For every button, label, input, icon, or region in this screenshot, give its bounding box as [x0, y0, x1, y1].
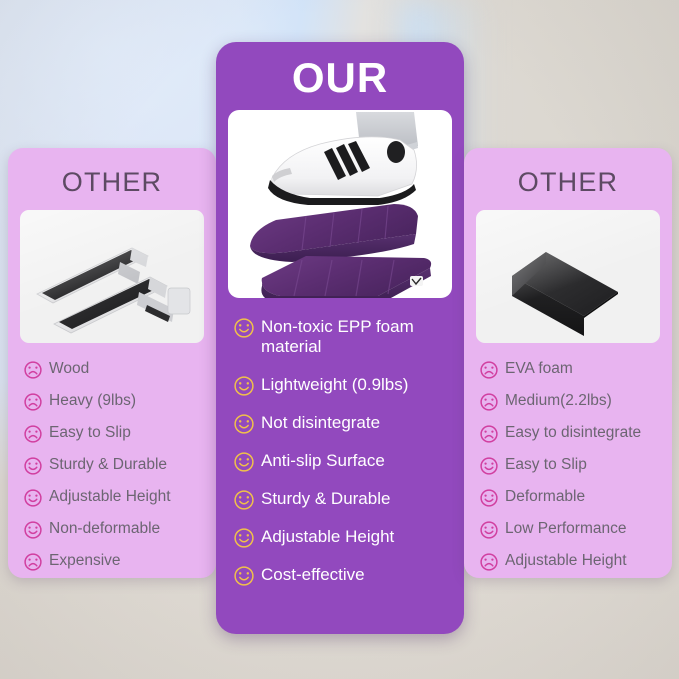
- feature-item: Anti-slip Surface: [234, 450, 452, 472]
- dual-slant-board-illustration: [20, 210, 204, 343]
- feature-label: Anti-slip Surface: [261, 450, 385, 471]
- feature-label: Deformable: [505, 487, 585, 506]
- feature-label: Sturdy & Durable: [49, 455, 167, 474]
- feature-label: Sturdy & Durable: [261, 488, 390, 509]
- feature-label: Medium(2.2lbs): [505, 391, 612, 410]
- sad-face-icon: [24, 423, 42, 443]
- feature-item: Medium(2.2lbs): [480, 391, 660, 411]
- happy-face-icon: [234, 412, 254, 434]
- feature-item: Expensive: [24, 551, 204, 571]
- feature-item: Lightweight (0.9lbs): [234, 374, 452, 396]
- feature-label: Expensive: [49, 551, 121, 570]
- card-left-feature-list: Wood Heavy (9lbs) Easy to Slip Sturdy & …: [20, 359, 204, 571]
- happy-face-icon: [234, 450, 254, 472]
- sad-face-icon: [24, 551, 42, 571]
- feature-item: Adjustable Height: [234, 526, 452, 548]
- feature-label: Non-toxic EPP foam material: [261, 316, 452, 358]
- card-right-feature-list: EVA foam Medium(2.2lbs) Easy to disinteg…: [476, 359, 660, 571]
- feature-item: Cost-effective: [234, 564, 452, 586]
- feature-item: Non-deformable: [24, 519, 204, 539]
- sad-face-icon: [24, 391, 42, 411]
- feature-label: Cost-effective: [261, 564, 365, 585]
- sad-face-icon: [24, 359, 42, 379]
- feature-item: Heavy (9lbs): [24, 391, 204, 411]
- happy-face-icon: [234, 526, 254, 548]
- happy-face-icon: [234, 316, 254, 338]
- feature-label: EVA foam: [505, 359, 573, 378]
- feature-item: Adjustable Height: [480, 551, 660, 571]
- happy-face-icon: [480, 455, 498, 475]
- comparison-card-our: OUR: [216, 42, 464, 634]
- happy-face-icon: [24, 487, 42, 507]
- feature-item: Sturdy & Durable: [24, 455, 204, 475]
- card-right-product-image: [476, 210, 660, 343]
- happy-face-icon: [234, 374, 254, 396]
- card-left-heading: OTHER: [20, 168, 204, 198]
- feature-label: Not disintegrate: [261, 412, 380, 433]
- happy-face-icon: [234, 488, 254, 510]
- feature-item: Adjustable Height: [24, 487, 204, 507]
- feature-item: Easy to Slip: [24, 423, 204, 443]
- card-center-feature-list: Non-toxic EPP foam material Lightweight …: [228, 316, 452, 586]
- feature-label: Lightweight (0.9lbs): [261, 374, 408, 395]
- feature-label: Easy to disintegrate: [505, 423, 641, 442]
- feature-item: Non-toxic EPP foam material: [234, 316, 452, 358]
- happy-face-icon: [480, 487, 498, 507]
- sad-face-icon: [480, 359, 498, 379]
- feature-label: Adjustable Height: [261, 526, 394, 547]
- sad-face-icon: [480, 391, 498, 411]
- feature-label: Low Performance: [505, 519, 626, 538]
- feature-label: Adjustable Height: [49, 487, 171, 506]
- feature-label: Easy to Slip: [505, 455, 587, 474]
- happy-face-icon: [24, 455, 42, 475]
- feature-item: Sturdy & Durable: [234, 488, 452, 510]
- feature-item: Not disintegrate: [234, 412, 452, 434]
- card-center-heading: OUR: [228, 56, 452, 100]
- feature-item: Easy to disintegrate: [480, 423, 660, 443]
- sad-face-icon: [480, 423, 498, 443]
- feature-item: EVA foam: [480, 359, 660, 379]
- feature-label: Adjustable Height: [505, 551, 627, 570]
- feature-item: Easy to Slip: [480, 455, 660, 475]
- feature-item: Deformable: [480, 487, 660, 507]
- purple-foam-slant-board-illustration: [228, 110, 452, 298]
- happy-face-icon: [234, 564, 254, 586]
- feature-label: Heavy (9lbs): [49, 391, 136, 410]
- feature-label: Wood: [49, 359, 89, 378]
- sad-face-icon: [480, 551, 498, 571]
- happy-face-icon: [24, 519, 42, 539]
- feature-item: Wood: [24, 359, 204, 379]
- card-right-heading: OTHER: [476, 168, 660, 198]
- comparison-card-other-left: OTHER: [8, 148, 216, 578]
- black-foam-wedge-illustration: [476, 210, 660, 343]
- feature-label: Non-deformable: [49, 519, 160, 538]
- happy-face-icon: [480, 519, 498, 539]
- card-left-product-image: [20, 210, 204, 343]
- card-center-product-image: [228, 110, 452, 298]
- feature-item: Low Performance: [480, 519, 660, 539]
- feature-label: Easy to Slip: [49, 423, 131, 442]
- comparison-card-other-right: OTHER EVA foam: [464, 148, 672, 578]
